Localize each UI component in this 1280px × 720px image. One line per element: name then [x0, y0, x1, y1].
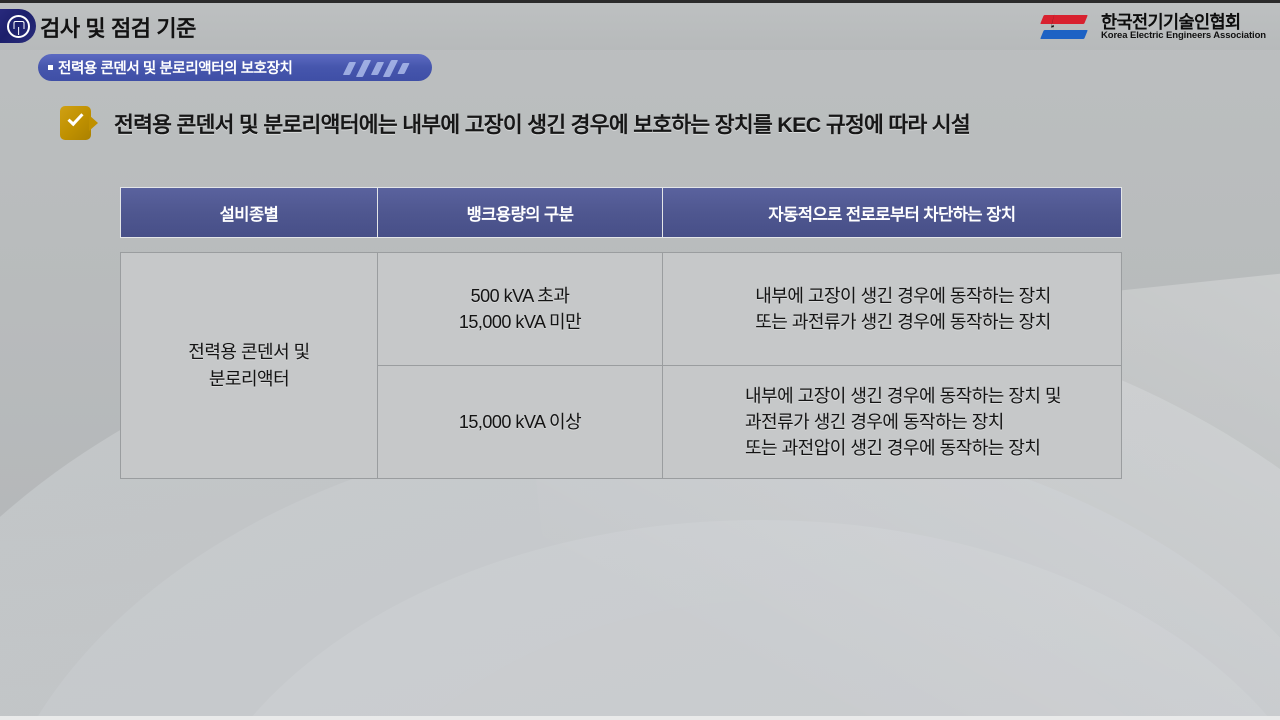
table-column-device: 내부에 고장이 생긴 경우에 동작하는 장치또는 과전류가 생긴 경우에 동작하… — [663, 253, 1121, 478]
slide-header: 검사 및 점검 기준 한국전기기술인협회 Korea Electric Engi… — [0, 3, 1280, 50]
bottom-divider — [0, 716, 1280, 720]
subtitle-pill: 전력용 콘덴서 및 분로리액터의 보호장치 — [38, 54, 432, 81]
logo-korean-name: 한국전기기술인협회 — [1101, 13, 1266, 31]
table-cell-device-row-2: 내부에 고장이 생긴 경우에 동작하는 장치 및과전류가 생긴 경우에 동작하는… — [663, 366, 1121, 479]
square-bullet-icon — [48, 65, 53, 70]
electric-plug-icon — [7, 15, 30, 38]
table-header-auto-disconnect-device: 자동적으로 전로로부터 차단하는 장치 — [663, 188, 1121, 237]
association-logo: 한국전기기술인협회 Korea Electric Engineers Assoc… — [1036, 11, 1266, 43]
table-header-row: 설비종별 뱅크용량의 구분 자동적으로 전로로부터 차단하는 장치 — [120, 187, 1122, 238]
table-column-bank-capacity: 500 kVA 초과15,000 kVA 미만 15,000 kVA 이상 — [378, 253, 663, 478]
bullet-statement: 전력용 콘덴서 및 분로리액터에는 내부에 고장이 생긴 경우에 보호하는 장치… — [60, 106, 970, 140]
table-cell-capacity-row-1: 500 kVA 초과15,000 kVA 미만 — [378, 253, 663, 366]
table-body: 전력용 콘덴서 및분로리액터 500 kVA 초과15,000 kVA 미만 1… — [120, 252, 1122, 479]
page-title: 검사 및 점검 기준 — [40, 11, 196, 43]
table-cell-device-row-1: 내부에 고장이 생긴 경우에 동작하는 장치또는 과전류가 생긴 경우에 동작하… — [663, 253, 1121, 366]
table-cell-equipment-type: 전력용 콘덴서 및분로리액터 — [121, 253, 378, 478]
slide-canvas: 검사 및 점검 기준 한국전기기술인협회 Korea Electric Engi… — [0, 0, 1280, 720]
diagonal-stripes-decoration — [340, 54, 418, 81]
background-arc-3 — [170, 520, 1280, 720]
table-header-equipment-type: 설비종별 — [121, 188, 378, 237]
table-cell-capacity-row-2: 15,000 kVA 이상 — [378, 366, 663, 479]
checkmark-box-icon — [60, 106, 98, 140]
bullet-statement-text: 전력용 콘덴서 및 분로리액터에는 내부에 고장이 생긴 경우에 보호하는 장치… — [114, 108, 970, 139]
kea-flag-bolt-logo-icon — [1036, 11, 1092, 43]
subtitle-label: 전력용 콘덴서 및 분로리액터의 보호장치 — [58, 57, 293, 78]
table-header-bank-capacity: 뱅크용량의 구분 — [378, 188, 663, 237]
title-badge — [0, 9, 36, 43]
background-arc-4 — [330, 600, 1230, 720]
logo-english-name: Korea Electric Engineers Association — [1101, 31, 1266, 41]
protection-device-table: 설비종별 뱅크용량의 구분 자동적으로 전로로부터 차단하는 장치 전력용 콘덴… — [120, 187, 1122, 479]
